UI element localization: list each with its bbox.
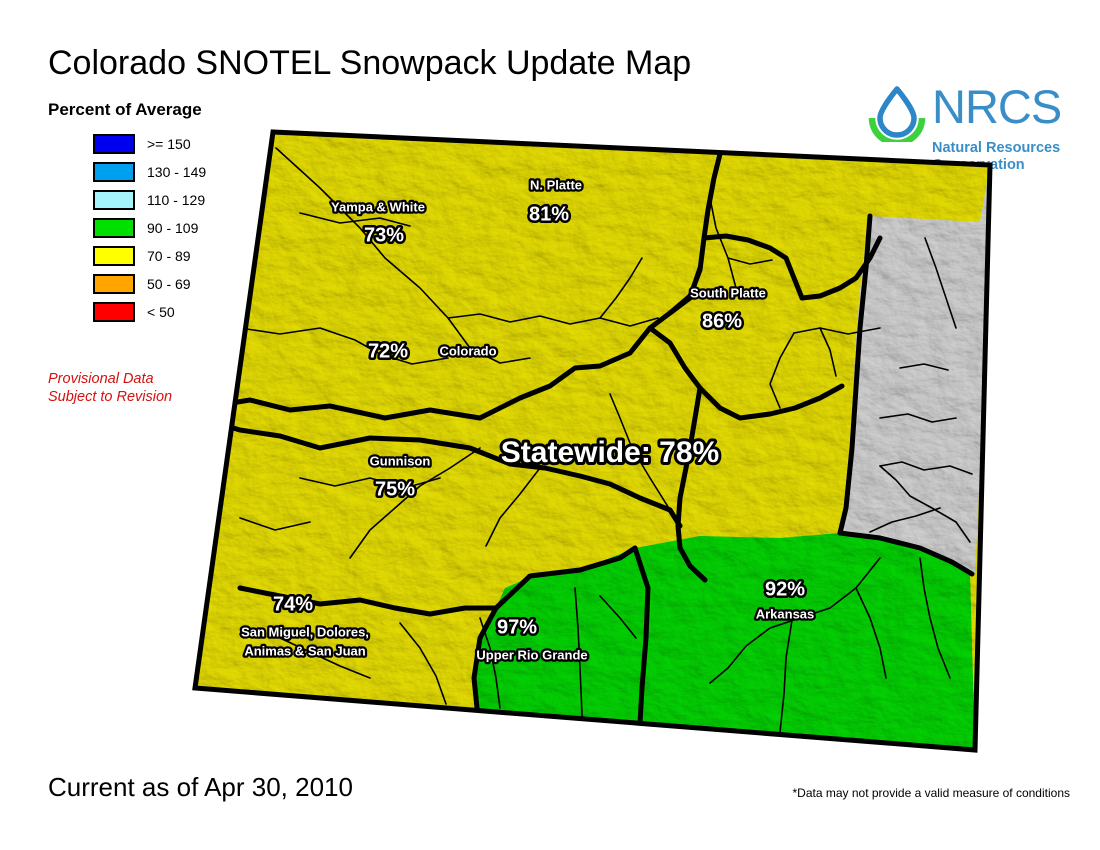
basin-percent-colorado: 72% — [368, 340, 408, 362]
basin-percent-gunnison: 75% — [375, 478, 415, 500]
basin-percent-yampa-white: 73% — [364, 224, 404, 246]
basin-label-south-platte: South Platte — [690, 285, 766, 300]
colorado-basin-map[interactable]: Yampa & White 73% N. Platte 81% South Pl… — [180, 118, 1020, 768]
basin-label-arkansas: Arkansas — [756, 606, 815, 621]
legend-swatch — [93, 134, 135, 154]
legend-heading: Percent of Average — [48, 100, 202, 120]
legend-label: < 50 — [147, 304, 175, 320]
basin-arkansas[interactable] — [635, 533, 975, 758]
basin-percent-south-platte: 86% — [702, 310, 742, 332]
footer-disclaimer: *Data may not provide a valid measure of… — [793, 786, 1070, 800]
basin-percent-upper-rio-grande: 97% — [497, 616, 537, 638]
basin-label-san-juan-1: San Miguel, Dolores, — [241, 624, 369, 639]
snowpack-map-page: Colorado SNOTEL Snowpack Update Map Perc… — [0, 0, 1100, 850]
provisional-line-2: Subject to Revision — [48, 388, 172, 406]
basin-percent-san-juan: 74% — [273, 593, 313, 615]
basin-label-colorado: Colorado — [439, 343, 496, 358]
basin-percent-arkansas: 92% — [765, 578, 805, 600]
basin-label-gunnison: Gunnison — [370, 453, 431, 468]
legend-swatch — [93, 190, 135, 210]
footer-date: Current as of Apr 30, 2010 — [48, 772, 353, 803]
basin-label-yampa-white: Yampa & White — [331, 199, 425, 214]
legend-swatch — [93, 246, 135, 266]
basin-label-n-platte: N. Platte — [530, 177, 582, 192]
legend-swatch — [93, 162, 135, 182]
legend-swatch — [93, 302, 135, 322]
basin-label-san-juan-2: Animas & San Juan — [244, 643, 365, 658]
statewide-label: Statewide: 78% — [501, 436, 719, 469]
provisional-data-note: Provisional Data Subject to Revision — [48, 370, 172, 406]
provisional-line-1: Provisional Data — [48, 370, 172, 388]
legend-swatch — [93, 274, 135, 294]
legend-swatch — [93, 218, 135, 238]
page-title: Colorado SNOTEL Snowpack Update Map — [48, 44, 691, 83]
basin-label-upper-rio-grande: Upper Rio Grande — [476, 647, 587, 662]
basin-percent-n-platte: 81% — [529, 203, 569, 225]
